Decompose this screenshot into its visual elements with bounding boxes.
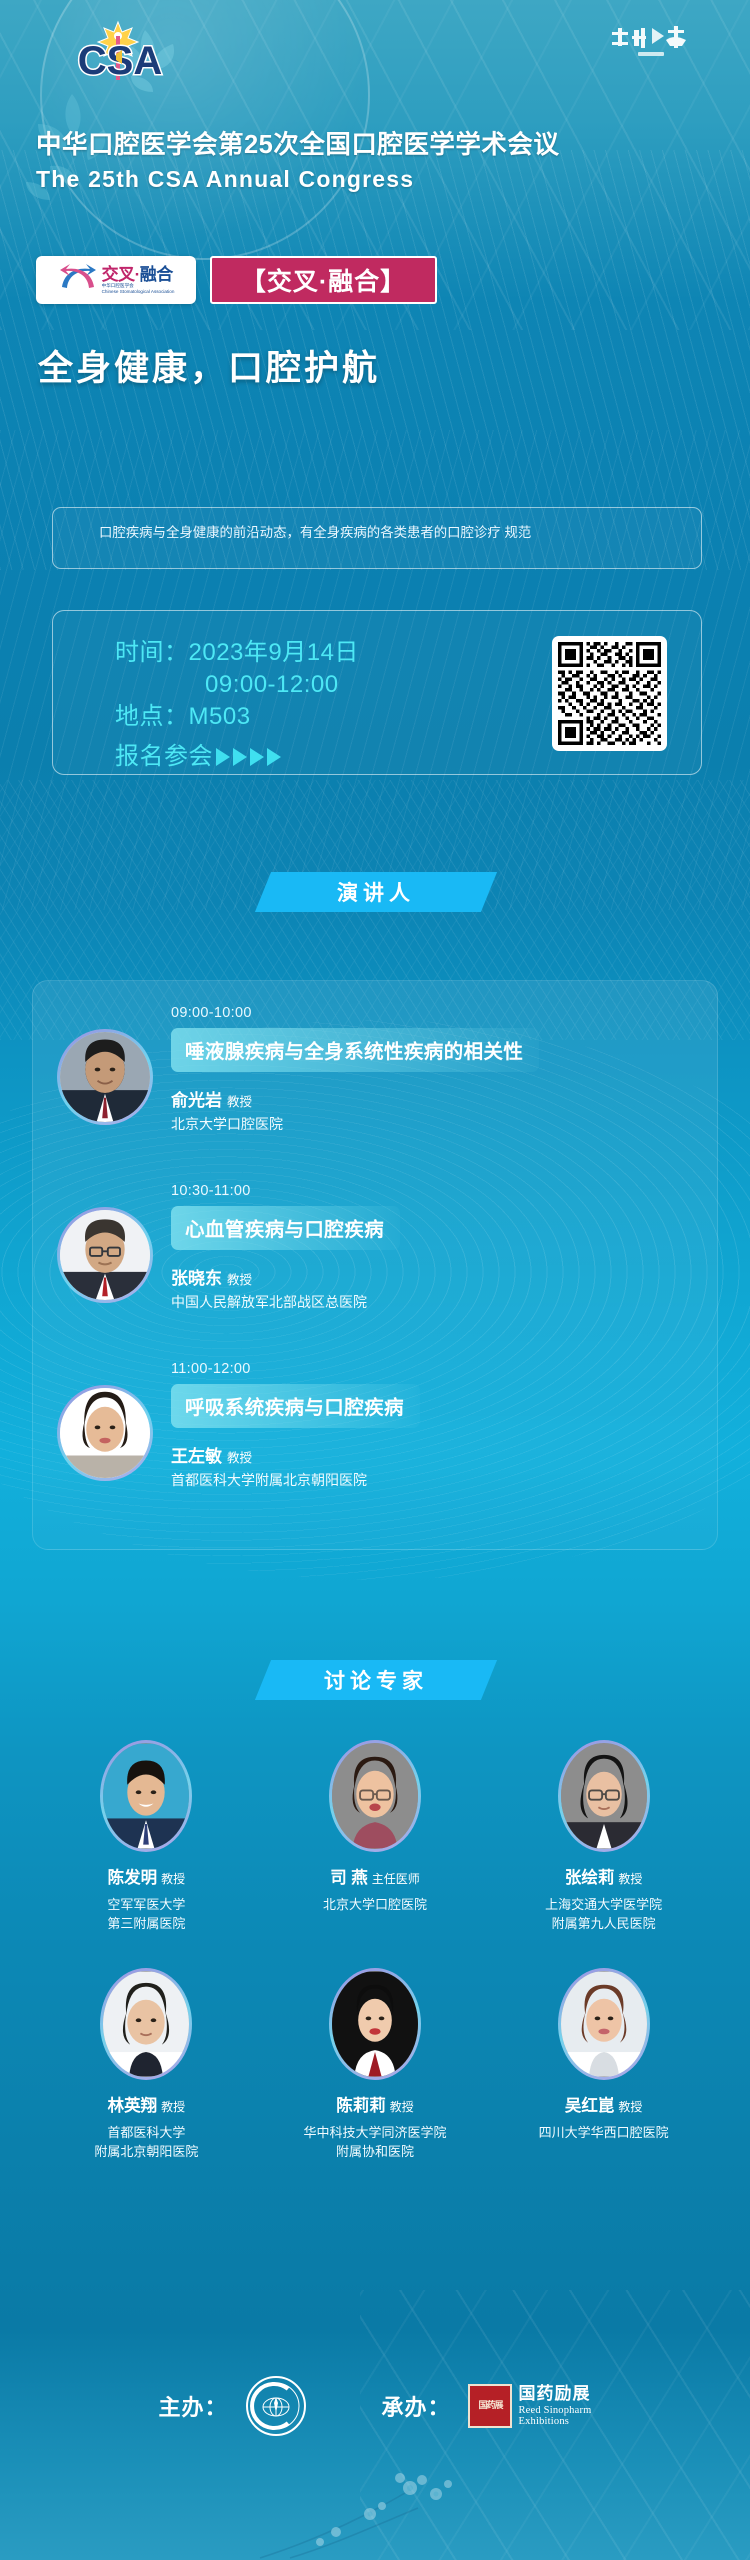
theme-banner: 【交叉·融合】 [210, 256, 437, 304]
event-date-line: 时间：2023年9月14日 [115, 637, 359, 669]
reed-sinopharm-logo: 国药展 国药励展 Reed Sinopharm Exhibitions [468, 2384, 591, 2428]
qr-code-icon [558, 642, 661, 745]
slogan: 全身健康，口腔护航 [38, 340, 380, 391]
theme-chip-logo: 交叉·融合 中华口腔医学会 Chinese Stomatological Ass… [36, 256, 196, 304]
reed-name-en-2: Exhibitions [518, 2416, 591, 2427]
avatar-ring [57, 1385, 153, 1481]
expert-name: 林英翔教授 [108, 2092, 186, 2116]
arrow-right-icon-3 [250, 748, 264, 766]
speaker-row: 10:30-11:00 心血管疾病与口腔疾病 张晓东教授 中国人民解放军北部战区… [57, 1177, 697, 1347]
description-line-2: 规范 [504, 525, 531, 540]
expert-name: 吴红崑教授 [565, 2092, 643, 2116]
speaker-row: 09:00-10:00 唾液腺疾病与全身系统性疾病的相关性 俞光岩教授 北京大学… [57, 999, 697, 1169]
portrait-icon [60, 1032, 150, 1122]
avatar-ring [57, 1029, 153, 1125]
expert-org: 上海交通大学医学院 附属第九人民医院 [545, 1896, 662, 1934]
avatar [561, 1743, 647, 1849]
theme-row: 交叉·融合 中华口腔医学会 Chinese Stomatological Ass… [36, 256, 437, 304]
description-line-1: 口腔疾病与全身健康的前沿动态，有全身疾病的各类患者的口腔诊疗 [73, 525, 501, 540]
speaker-topic: 唾液腺疾病与全身系统性疾病的相关性 [171, 1028, 539, 1072]
expert-org: 空军军医大学 第三附属医院 [107, 1896, 185, 1934]
event-poster: CSA 中华口腔医学会第25次全国口腔医学学术会议 The 25th CSA A… [0, 0, 750, 2560]
speaker-topic: 呼吸系统疾病与口腔疾病 [171, 1384, 420, 1428]
section-heading-speakers: 演讲人 [255, 872, 497, 912]
expert-name: 陈莉莉教授 [336, 2092, 414, 2116]
expert-org: 首都医科大学 附属北京朝阳医院 [94, 2124, 198, 2162]
csa-logo: CSA [60, 18, 180, 90]
speaker-org: 北京大学口腔医院 [171, 1114, 539, 1134]
speaker-name: 张晓东教授 [171, 1264, 400, 1289]
host-label: 主办： [158, 2390, 227, 2422]
section-heading-panel-label: 讨论专家 [324, 1665, 428, 1695]
expert-card: 张绘莉教授 上海交通大学医学院 附属第九人民医院 [489, 1740, 718, 1934]
reed-seal-icon: 国药展 [468, 2384, 512, 2428]
expert-org: 四川大学华西口腔医院 [539, 2124, 669, 2143]
congress-title-en: The 25th CSA Annual Congress [36, 166, 716, 193]
panel-experts-grid: 陈发明教授 空军军医大学 第三附属医院 司 燕主任医师 北 [32, 1740, 718, 2161]
avatar [103, 1971, 189, 2077]
expert-title: 教授 [618, 2100, 642, 2114]
speaker-title: 教授 [227, 1273, 252, 1287]
reed-name-en-1: Reed Sinopharm [518, 2405, 591, 2416]
expert-card: 陈莉莉教授 华中科技大学同济医学院 附属协和医院 [261, 1968, 490, 2162]
signup-label: 报名参会 [115, 741, 213, 773]
expert-card: 吴红崑教授 四川大学华西口腔医院 [489, 1968, 718, 2162]
expert-title: 教授 [390, 2100, 414, 2114]
portrait-icon [332, 1743, 418, 1849]
theme-chip-sub-en: Chinese Stomatological Association [102, 289, 175, 295]
expert-card: 林英翔教授 首都医科大学 附属北京朝阳医院 [32, 1968, 261, 2162]
expert-card: 司 燕主任医师 北京大学口腔医院 [261, 1740, 490, 1934]
description-box: 口腔疾病与全身健康的前沿动态，有全身疾病的各类患者的口腔诊疗 规范 [52, 507, 702, 569]
avatar [60, 1032, 150, 1122]
portrait-icon [60, 1210, 150, 1300]
arrow-right-icon-4 [267, 748, 281, 766]
portrait-icon [561, 1743, 647, 1849]
csa-seal-logo [245, 2375, 307, 2437]
avatar [332, 1743, 418, 1849]
avatar [332, 1971, 418, 2077]
portrait-icon [561, 1971, 647, 2077]
portrait-icon [103, 1971, 189, 2077]
expert-name: 陈发明教授 [108, 1864, 186, 1888]
speaker-title: 教授 [227, 1095, 252, 1109]
expert-card: 陈发明教授 空军军医大学 第三附属医院 [32, 1740, 261, 1934]
avatar-ring [100, 1968, 192, 2080]
avatar-ring [558, 1968, 650, 2080]
expert-title: 教授 [161, 2100, 185, 2114]
congress-title-cn: 中华口腔医学会第25次全国口腔医学学术会议 [36, 130, 716, 162]
portrait-icon [60, 1388, 150, 1478]
event-venue-line: 地点：M503 [115, 701, 359, 733]
protect-natural-teeth-logo [608, 22, 692, 66]
speaker-time: 10:30-11:00 [171, 1183, 400, 1199]
signup-row[interactable]: 报名参会 [115, 741, 359, 773]
speakers-panel: 09:00-10:00 唾液腺疾病与全身系统性疾病的相关性 俞光岩教授 北京大学… [32, 980, 718, 1550]
speaker-name: 王左敏教授 [171, 1442, 420, 1467]
avatar-ring [100, 1740, 192, 1852]
speaker-time: 09:00-10:00 [171, 1005, 539, 1021]
portrait-icon [332, 1971, 418, 2077]
avatar-ring [329, 1968, 421, 2080]
arrow-right-icon-2 [233, 748, 247, 766]
portrait-icon [103, 1743, 189, 1849]
congress-title-block: 中华口腔医学会第25次全国口腔医学学术会议 The 25th CSA Annua… [36, 130, 716, 193]
speaker-row: 11:00-12:00 呼吸系统疾病与口腔疾病 王左敏教授 首都医科大学附属北京… [57, 1355, 697, 1525]
avatar [60, 1388, 150, 1478]
speaker-name: 俞光岩教授 [171, 1086, 539, 1111]
avatar [103, 1743, 189, 1849]
theme-chip-main: 交叉·融合 [102, 266, 173, 283]
speaker-topic: 心血管疾病与口腔疾病 [171, 1206, 400, 1250]
expert-org: 北京大学口腔医院 [323, 1896, 427, 1915]
expert-title: 教授 [161, 1872, 185, 1886]
footer: 主办： 承办： 国药展 国药励展 Reed Sinopharm Exhibiti… [0, 2375, 750, 2437]
flower-decoration-bottom [250, 2450, 510, 2560]
speaker-time: 11:00-12:00 [171, 1361, 420, 1377]
section-heading-panel: 讨论专家 [255, 1660, 497, 1700]
expert-name: 司 燕主任医师 [330, 1864, 420, 1888]
event-time-line: 09:00-12:00 [115, 669, 359, 701]
speaker-org: 中国人民解放军北部战区总医院 [171, 1292, 400, 1312]
event-info-box: 时间：2023年9月14日 09:00-12:00 地点：M503 报名参会 [52, 610, 702, 775]
reed-text-block: 国药励展 Reed Sinopharm Exhibitions [518, 2385, 591, 2427]
arrow-right-icon-1 [216, 748, 230, 766]
registration-qr-code[interactable] [552, 636, 667, 751]
avatar-ring [57, 1207, 153, 1303]
section-heading-speakers-label: 演讲人 [337, 877, 415, 907]
avatar-ring [329, 1740, 421, 1852]
event-info-text: 时间：2023年9月14日 09:00-12:00 地点：M503 报名参会 [115, 637, 359, 773]
speaker-details: 10:30-11:00 心血管疾病与口腔疾病 张晓东教授 中国人民解放军北部战区… [171, 1177, 400, 1312]
crossing-arrows-icon [58, 263, 98, 297]
avatar [561, 1971, 647, 2077]
speaker-org: 首都医科大学附属北京朝阳医院 [171, 1470, 420, 1490]
avatar [60, 1210, 150, 1300]
expert-title: 主任医师 [372, 1872, 420, 1886]
expert-name: 张绘莉教授 [565, 1864, 643, 1888]
speaker-title: 教授 [227, 1451, 252, 1465]
speaker-details: 11:00-12:00 呼吸系统疾病与口腔疾病 王左敏教授 首都医科大学附属北京… [171, 1355, 420, 1490]
avatar-ring [558, 1740, 650, 1852]
theme-chip-text: 交叉·融合 中华口腔医学会 Chinese Stomatological Ass… [102, 266, 175, 295]
reed-name-cn: 国药励展 [518, 2385, 591, 2403]
speaker-details: 09:00-10:00 唾液腺疾病与全身系统性疾病的相关性 俞光岩教授 北京大学… [171, 999, 539, 1134]
coorganizer-label: 承办： [381, 2390, 450, 2422]
expert-org: 华中科技大学同济医学院 附属协和医院 [303, 2124, 446, 2162]
expert-title: 教授 [618, 1872, 642, 1886]
